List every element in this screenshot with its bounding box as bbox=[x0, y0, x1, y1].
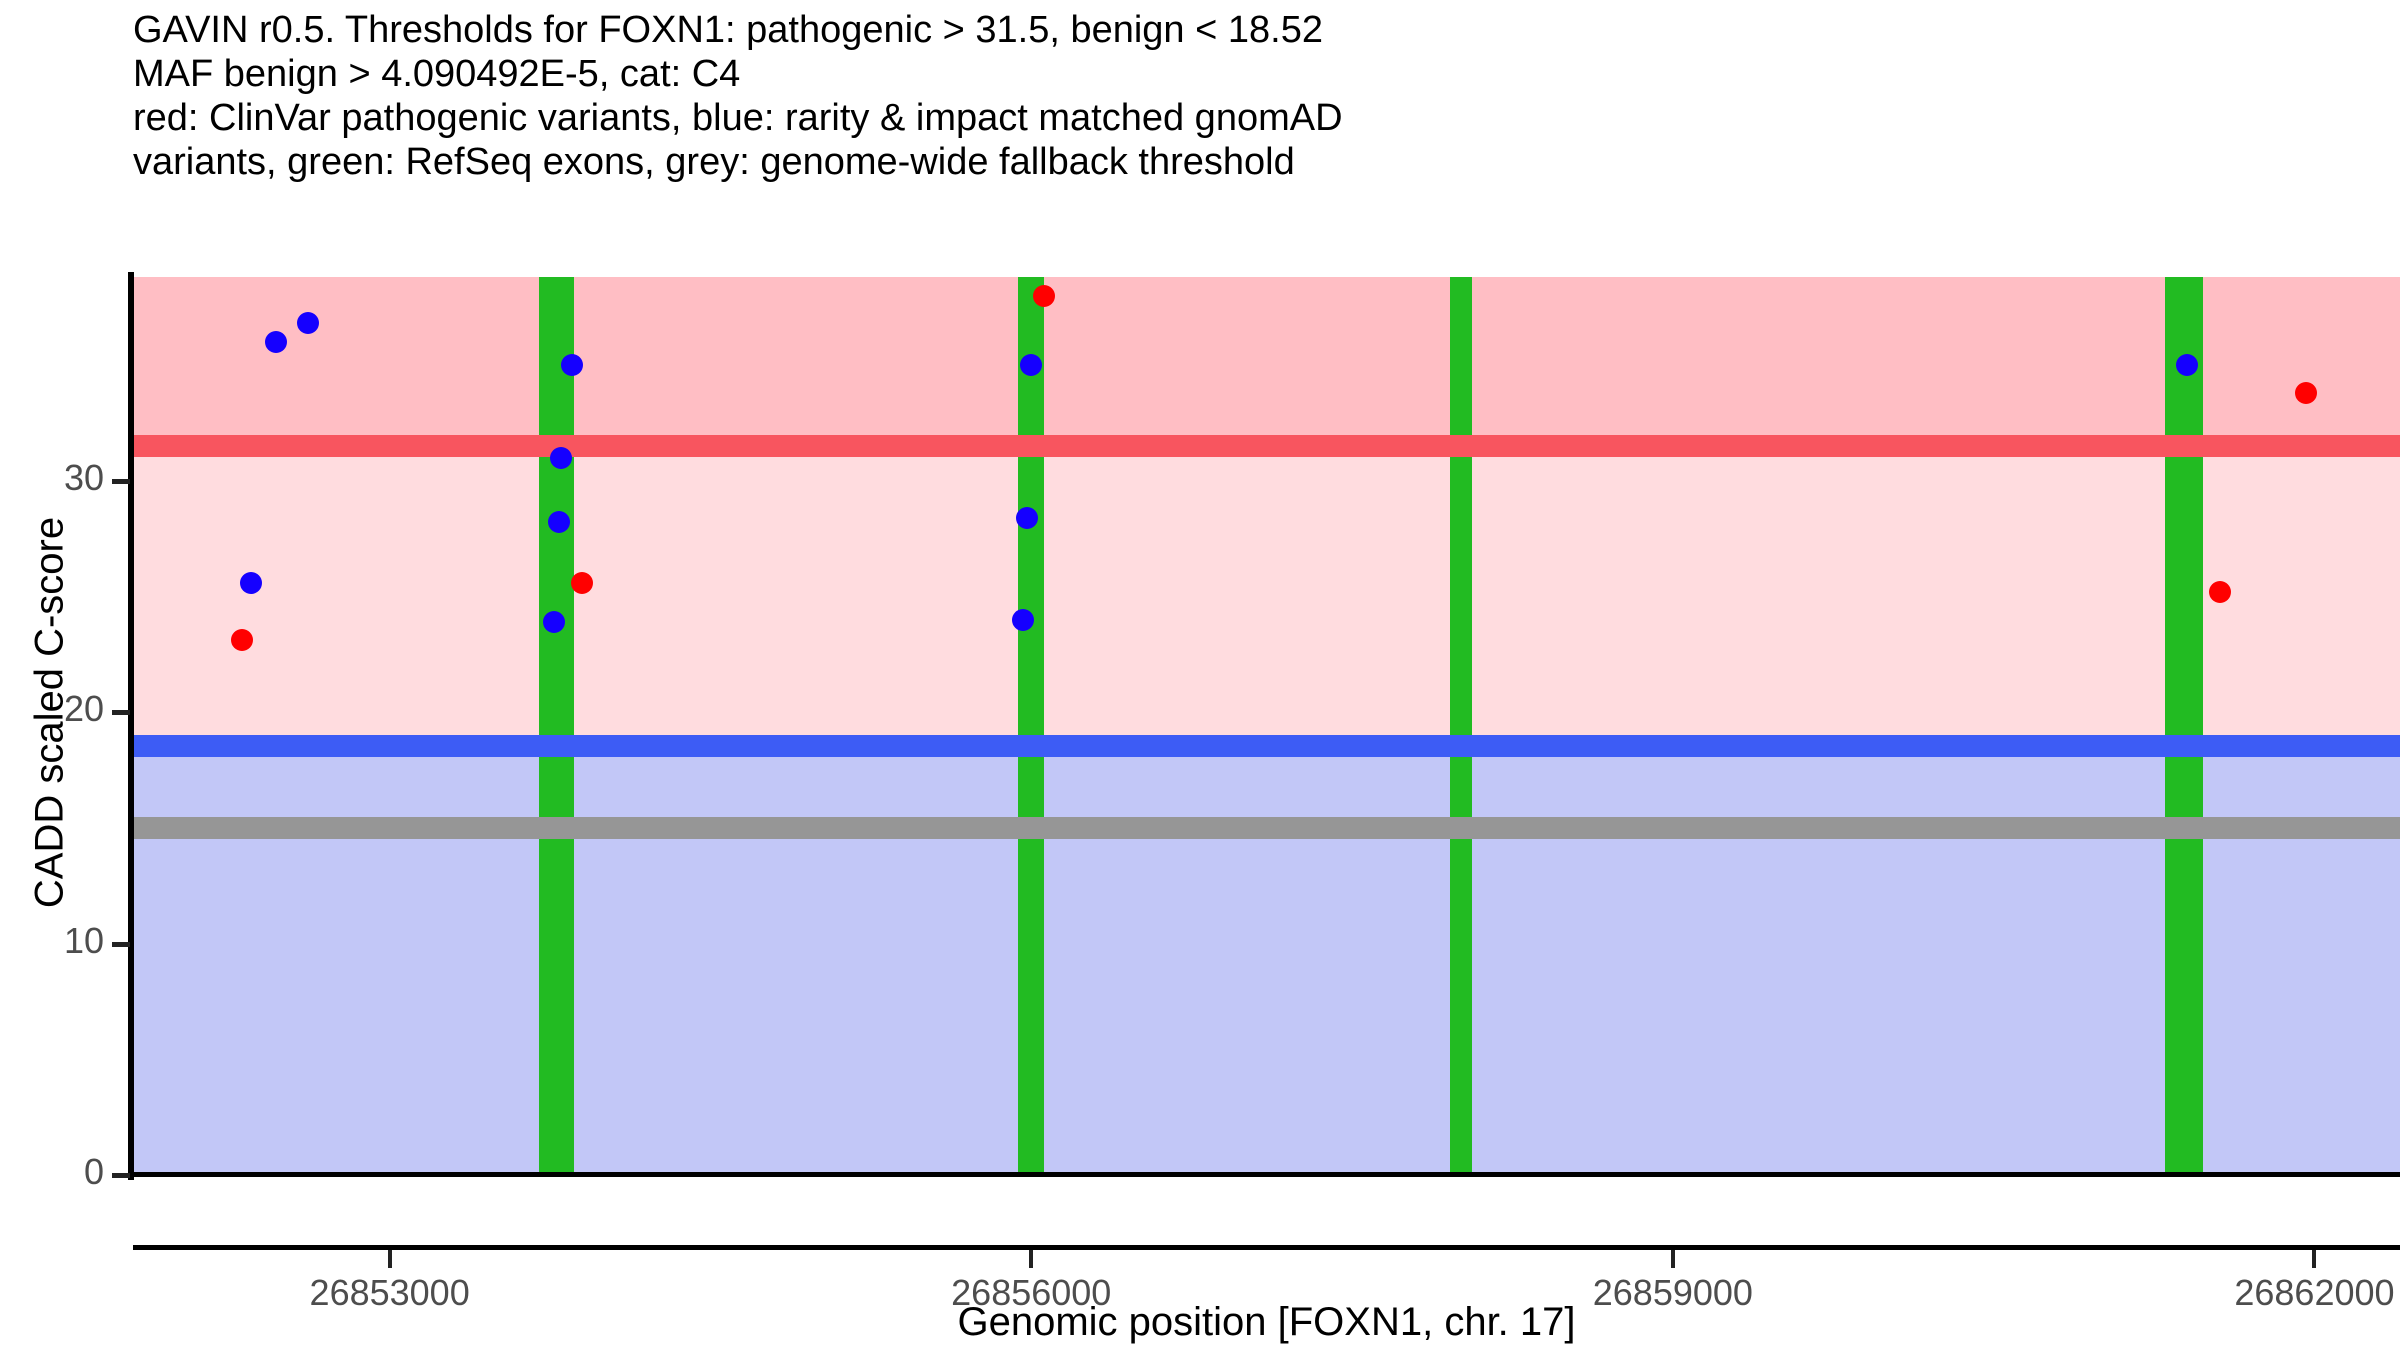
chart-canvas: GAVIN r0.5. Thresholds for FOXN1: pathog… bbox=[0, 0, 2400, 1350]
data-point bbox=[1012, 609, 1034, 631]
exon-bar bbox=[539, 277, 573, 1175]
exon-bar bbox=[2165, 277, 2203, 1175]
chart-title: GAVIN r0.5. Thresholds for FOXN1: pathog… bbox=[133, 8, 2133, 184]
data-point bbox=[2209, 581, 2231, 603]
y-tick-mark bbox=[112, 1173, 130, 1178]
data-point bbox=[548, 511, 570, 533]
y-axis-line bbox=[128, 272, 134, 1180]
exon-bar bbox=[1450, 277, 1471, 1175]
x-tick-mark bbox=[388, 1250, 392, 1268]
y-axis-title: CADD scaled C-score bbox=[28, 263, 73, 1163]
x-tick-mark bbox=[1671, 1250, 1675, 1268]
band-pathogenic-band bbox=[133, 277, 2400, 446]
plot-panel bbox=[133, 277, 2400, 1175]
band-vus-band bbox=[133, 446, 2400, 746]
band-benign-band bbox=[133, 746, 2400, 1175]
data-point bbox=[1016, 507, 1038, 529]
title-line-3: red: ClinVar pathogenic variants, blue: … bbox=[133, 96, 2133, 140]
data-point bbox=[1020, 354, 1042, 376]
x-axis-title: Genomic position [FOXN1, chr. 17] bbox=[133, 1300, 2400, 1345]
data-point bbox=[571, 572, 593, 594]
data-point bbox=[265, 331, 287, 353]
title-line-2: MAF benign > 4.090492E-5, cat: C4 bbox=[133, 52, 2133, 96]
data-point bbox=[550, 447, 572, 469]
y-tick-mark bbox=[112, 942, 130, 947]
threshold-line-benign bbox=[133, 735, 2400, 757]
data-point bbox=[2295, 382, 2317, 404]
x-tick-mark bbox=[1029, 1250, 1033, 1268]
title-line-1: GAVIN r0.5. Thresholds for FOXN1: pathog… bbox=[133, 8, 2133, 52]
data-point bbox=[1033, 285, 1055, 307]
panel-bottom-rule bbox=[133, 1245, 2400, 1250]
y-tick-mark bbox=[112, 710, 130, 715]
x-axis-line bbox=[128, 1172, 2400, 1177]
data-point bbox=[543, 611, 565, 633]
exon-bar bbox=[1018, 277, 1044, 1175]
threshold-line-genome-wide-fallback bbox=[133, 817, 2400, 839]
x-tick-mark bbox=[2312, 1250, 2316, 1268]
y-tick-mark bbox=[112, 479, 130, 484]
threshold-line-pathogenic bbox=[133, 435, 2400, 457]
data-point bbox=[240, 572, 262, 594]
data-point bbox=[2176, 354, 2198, 376]
title-line-4: variants, green: RefSeq exons, grey: gen… bbox=[133, 140, 2133, 184]
y-axis-title-wrap: CADD scaled C-score bbox=[0, 0, 60, 1350]
